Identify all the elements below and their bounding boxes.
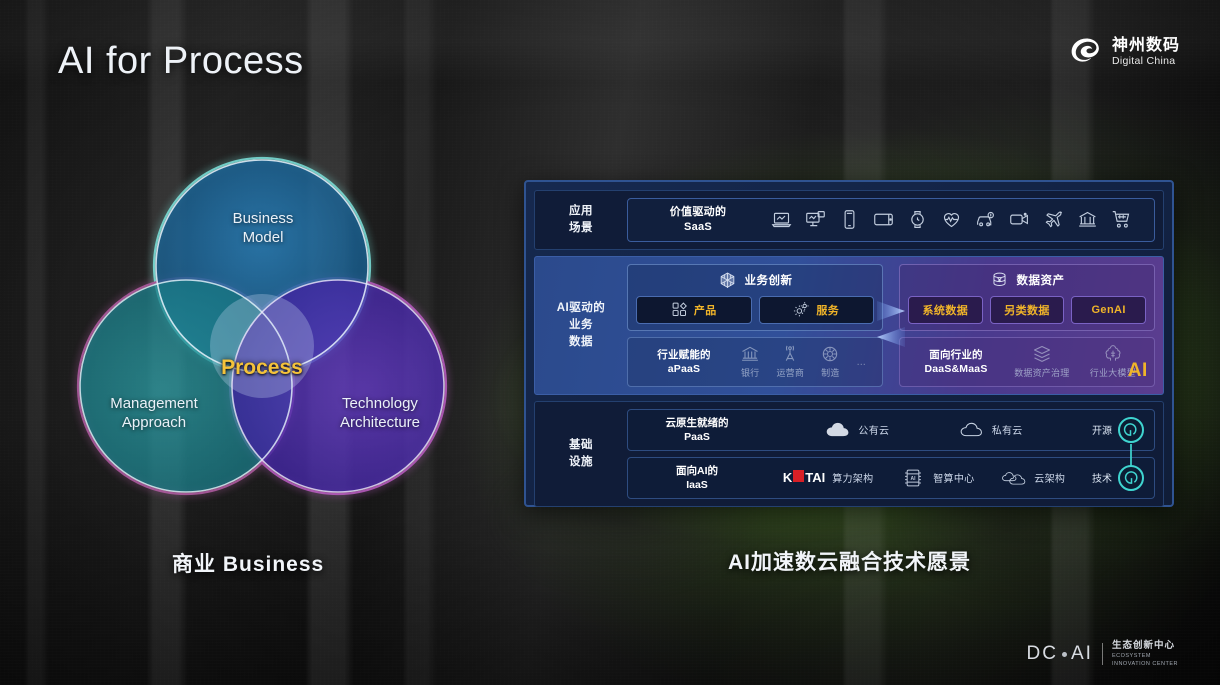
kutai-red-block (793, 470, 804, 482)
saas-title-line2: SaaS (684, 221, 712, 233)
daas-label-data-governance: 数据资产治理 (1014, 366, 1069, 379)
brand-logo: 神州数码 Digital China (1070, 36, 1180, 69)
footer-dot-icon (1062, 652, 1067, 657)
business-innovation-column: 业务创新 产品 服务 (627, 264, 891, 387)
footer-dc-text: DC (1027, 643, 1058, 665)
daas-title-line2: DaaS&MaaS (924, 363, 987, 375)
inf-label-line2: 设施 (569, 456, 593, 468)
app-label-line1: 应用 (569, 205, 593, 217)
apaas-label-operator: 运营商 (776, 366, 804, 379)
chip-genai-label: GenAI (1091, 304, 1125, 316)
footer-divider (1102, 643, 1103, 665)
factory-gear-icon (820, 344, 840, 364)
apaas-items: 银行 运营商 制造 ... (732, 344, 874, 379)
smartphone-icon (839, 209, 860, 230)
desktop-monitor-icon (805, 209, 826, 230)
band-application-scenarios: 应用 场景 价值驱动的 SaaS (534, 190, 1164, 250)
footer-en-line2: INNOVATION CENTER (1112, 661, 1178, 667)
business-innovation-title: 业务创新 (745, 272, 793, 288)
iaas-title: 面向AI的 IaaS (638, 464, 756, 492)
data-assets-title: 数据资产 (1017, 272, 1065, 288)
brand-name-en: Digital China (1112, 56, 1180, 67)
shopping-cart-icon (1111, 209, 1132, 230)
daas-item-data-governance: 数据资产治理 (1014, 344, 1069, 379)
bank-icon (1077, 209, 1098, 230)
inf-label-line1: 基础 (569, 439, 593, 451)
open-source-ring-icon (1118, 465, 1144, 491)
ai-driven-body: 业务创新 产品 服务 (627, 257, 1163, 394)
infrastructure-body: 云原生就绪的 PaaS 公有云 私有云 (627, 402, 1163, 506)
chip-system-data[interactable]: 系统数据 (908, 296, 983, 324)
caption-tech-vision: AI加速数云融合技术愿景 (728, 546, 971, 576)
brand-name-cn: 神州数码 (1112, 38, 1180, 55)
cloud-filled-icon (825, 420, 851, 440)
apaas-more-dots: ... (857, 356, 866, 368)
daas-maas-title: 面向行业的 DaaS&MaaS (908, 348, 1004, 376)
saas-icon-row (758, 209, 1144, 230)
apaas-item-operator: 运营商 (776, 344, 804, 379)
apaas-row: 行业赋能的 aPaaS 银行 运营商 (627, 337, 883, 387)
digital-china-swirl-icon (1070, 36, 1103, 69)
chip-product[interactable]: 产品 (636, 296, 752, 324)
ai-server-icon: AI (900, 468, 926, 488)
bank-columns-icon (740, 344, 760, 364)
paas-title-line2: PaaS (684, 431, 710, 443)
daas-maas-items: 数据资产治理 行业大模型 AI (1004, 344, 1146, 379)
apaas-title-line2: aPaaS (668, 363, 701, 375)
open-source-ring-icon (1118, 417, 1144, 443)
saas-card: 价值驱动的 SaaS (627, 198, 1155, 242)
footer-dc-ai: DC AI (1027, 643, 1093, 665)
iaas-title-line2: IaaS (686, 479, 708, 491)
apaas-title-line1: 行业赋能的 (657, 349, 711, 361)
application-scenarios-body: 价值驱动的 SaaS (627, 191, 1163, 249)
car-service-icon (975, 209, 996, 230)
mid-label-line2: 业务 (569, 319, 593, 331)
saas-title: 价值驱动的 SaaS (638, 205, 758, 235)
chip-alternative-data[interactable]: 另类数据 (990, 296, 1065, 324)
badge-connector-line (1130, 444, 1132, 466)
video-camera-icon (1009, 209, 1030, 230)
footer-ai-text: AI (1071, 643, 1093, 665)
iaas-row: 面向AI的 IaaS KTAI 算力架构 AI (627, 457, 1155, 499)
iaas-item-compute-arch: KTAI 算力架构 (783, 470, 874, 485)
kutai-brand-text: KTAI (783, 470, 825, 485)
svg-text:AI: AI (911, 476, 917, 482)
architecture-panel: 应用 场景 价值驱动的 SaaS (524, 180, 1174, 507)
band-label-infrastructure: 基础 设施 (535, 402, 627, 506)
business-innovation-header: 业务创新 (636, 271, 874, 290)
tablet-icon (873, 209, 894, 230)
venn-diagram: Business Model Management Approach Techn… (62, 150, 462, 505)
apaas-title: 行业赋能的 aPaaS (636, 348, 732, 376)
iaas-label-compute-arch: 算力架构 (832, 470, 873, 485)
footer-text-block: 生态创新中心 ECOSYSTEM INNOVATION CENTER (1112, 641, 1178, 667)
chip-product-label: 产品 (694, 302, 717, 318)
band-infrastructure: 基础 设施 云原生就绪的 PaaS 公有云 (534, 401, 1164, 507)
cube-network-icon (718, 271, 737, 290)
business-innovation-chips: 产品 服务 (636, 296, 874, 324)
footer-en-line1: ECOSYSTEM (1112, 653, 1178, 659)
iaas-items: KTAI 算力架构 AI 智算中心 云架构 (756, 465, 1144, 491)
ai-overlay-label: AI (1128, 360, 1148, 382)
database-yuan-icon (990, 271, 1009, 290)
apaas-item-manufacturing: 制造 (820, 344, 840, 379)
smartwatch-icon (907, 209, 928, 230)
paas-badge-label: 开源 (1092, 422, 1112, 437)
airplane-icon (1043, 209, 1064, 230)
paas-title-line1: 云原生就绪的 (666, 417, 729, 429)
chip-genai[interactable]: GenAI (1071, 296, 1146, 324)
daas-title-line1: 面向行业的 (929, 349, 983, 361)
app-label-line2: 场景 (569, 222, 593, 234)
apaas-label-manufacturing: 制造 (821, 366, 839, 379)
iaas-item-cloud-arch: 云架构 (1001, 468, 1065, 488)
apaas-item-bank: 银行 (740, 344, 760, 379)
iaas-title-line1: 面向AI的 (676, 465, 718, 477)
laptop-chart-icon (771, 209, 792, 230)
iaas-label-cloud-arch: 云架构 (1034, 470, 1065, 485)
heartbeat-icon (941, 209, 962, 230)
footer-cn-text: 生态创新中心 (1112, 641, 1178, 652)
daas-item-industry-llm: 行业大模型 AI (1090, 344, 1136, 379)
chip-service[interactable]: 服务 (759, 296, 875, 324)
paas-item-private-cloud: 私有云 (959, 420, 1023, 440)
brain-circuit-icon (1103, 344, 1123, 364)
band-ai-driven-business-data: AI驱动的 业务 数据 (534, 256, 1164, 395)
paas-label-private-cloud: 私有云 (992, 422, 1023, 437)
antenna-signal-icon (780, 344, 800, 364)
bidirectional-arrows-icon (871, 297, 911, 353)
cloud-outline-icon (959, 420, 985, 440)
gears-icon (793, 301, 810, 318)
data-layers-icon (1032, 344, 1052, 364)
band-label-application-scenarios: 应用 场景 (535, 191, 627, 249)
paas-badge-open-source: 开源 (1092, 417, 1144, 443)
saas-title-line1: 价值驱动的 (670, 206, 727, 218)
paas-row: 云原生就绪的 PaaS 公有云 私有云 (627, 409, 1155, 451)
iaas-label-ai-compute-center: 智算中心 (933, 470, 974, 485)
footer-logo: DC AI 生态创新中心 ECOSYSTEM INNOVATION CENTER (1027, 641, 1178, 667)
iaas-badge-technology: 技术 (1092, 465, 1144, 491)
page-title: AI for Process (58, 40, 304, 83)
blocks-icon (671, 301, 688, 318)
band-label-ai-driven-business-data: AI驱动的 业务 数据 (535, 257, 627, 394)
paas-label-public-cloud: 公有云 (858, 422, 889, 437)
mid-label-line1: AI驱动的 (557, 302, 606, 314)
business-innovation-card: 业务创新 产品 服务 (627, 264, 883, 331)
caption-business: 商业 Business (172, 548, 324, 578)
data-assets-chips: 系统数据 另类数据 GenAI (908, 296, 1146, 324)
slide-canvas: AI for Process 神州数码 Digital China (0, 0, 1220, 685)
data-assets-column: 数据资产 系统数据 另类数据 GenAI (891, 264, 1155, 387)
chip-system-data-label: 系统数据 (923, 302, 969, 318)
paas-items: 公有云 私有云 开源 (756, 417, 1144, 443)
chip-service-label: 服务 (816, 302, 839, 318)
apaas-label-bank: 银行 (741, 366, 759, 379)
kutai-logo-icon: KTAI (783, 470, 825, 485)
data-assets-card: 数据资产 系统数据 另类数据 GenAI (899, 264, 1155, 331)
chip-alternative-data-label: 另类数据 (1004, 302, 1050, 318)
mid-label-line3: 数据 (569, 336, 593, 348)
cloud-multi-icon (1001, 468, 1027, 488)
mid-split-wrap: 业务创新 产品 服务 (627, 264, 1155, 387)
iaas-item-ai-compute-center: AI 智算中心 (900, 468, 974, 488)
iaas-badge-label: 技术 (1092, 470, 1112, 485)
paas-title: 云原生就绪的 PaaS (638, 416, 756, 444)
paas-item-public-cloud: 公有云 (825, 420, 889, 440)
daas-maas-row: 面向行业的 DaaS&MaaS 数据资产治理 行业大模型 (899, 337, 1155, 387)
data-assets-header: 数据资产 (908, 271, 1146, 290)
